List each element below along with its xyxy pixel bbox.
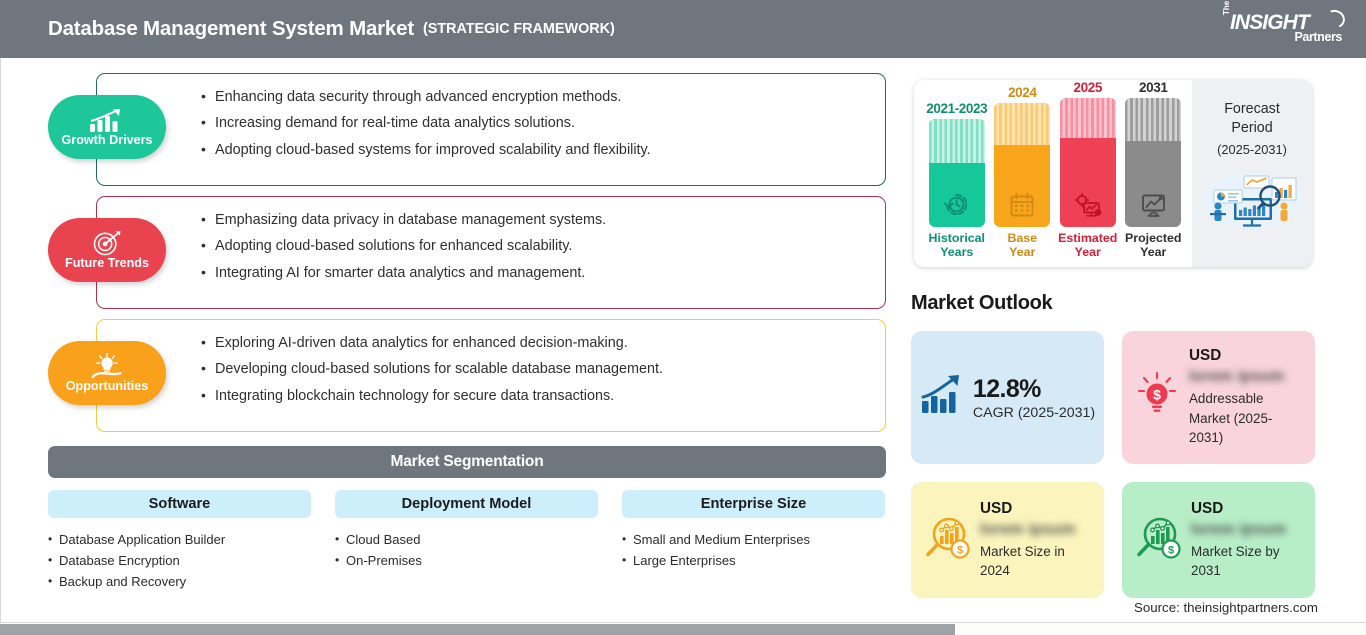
source-attribution: Source: theinsightpartners.com [1134, 600, 1318, 615]
list-item: Adopting cloud-based systems for improve… [201, 143, 885, 157]
magnifier-bar-chart-icon: $ [1134, 515, 1182, 566]
bar-stripes [1060, 98, 1116, 138]
card-label: Addressable Market (2025-2031) [1189, 389, 1303, 448]
market-segmentation-header: Market Segmentation [48, 446, 886, 478]
list-item: Backup and Recovery [48, 571, 311, 592]
currency-label: USD [1191, 500, 1303, 518]
forecast-caption: Historical Years [929, 232, 985, 259]
bar-stripes [994, 103, 1050, 145]
bar-stripes [929, 119, 985, 163]
forecast-period-range: (2025-2031) [1217, 142, 1287, 157]
market-segmentation-title: Market Segmentation [391, 453, 544, 471]
caption-line-2: Year [1140, 245, 1166, 259]
forecast-caption: Projected Year [1125, 232, 1181, 259]
forecast-bar-projected: 2031 [1121, 80, 1187, 267]
forecast-caption: Estimated Year [1058, 232, 1117, 259]
segment-pill-software[interactable]: Software [48, 490, 311, 518]
forecast-year: 2024 [1008, 85, 1036, 100]
outlook-card-market-size-2031[interactable]: $ USD lorem ipsum Market Size by 2031 [1122, 482, 1315, 598]
segment-column-enterprise-size: Enterprise Size Small and Medium Enterpr… [622, 490, 885, 592]
growth-drivers-badge[interactable]: Growth Drivers [48, 95, 166, 159]
segment-pill-enterprise-size[interactable]: Enterprise Size [622, 490, 885, 518]
redacted-value: lorem ipsum [1191, 521, 1303, 539]
forecast-year: 2025 [1074, 80, 1102, 95]
horizontal-scrollbar[interactable] [0, 622, 1366, 635]
market-size-2024-text: USD lorem ipsum Market Size in 2024 [980, 500, 1092, 581]
opportunities-label: Opportunities [66, 380, 149, 392]
outlook-card-market-size-2024[interactable]: $ USD lorem ipsum Market Size in 2024 [911, 482, 1104, 598]
future-trends-badge[interactable]: Future Trends [48, 218, 166, 282]
future-trends-label: Future Trends [65, 257, 149, 269]
bar-stripes [1125, 98, 1181, 141]
growth-drivers-box: Enhancing data security through advanced… [96, 73, 886, 186]
list-item: On-Premises [335, 550, 598, 571]
left-divider [0, 58, 1, 623]
analytics-dashboard-illustration [1200, 168, 1304, 235]
forecast-period-info: Forecast Period (2025-2031) [1192, 80, 1312, 267]
opportunities-badge[interactable]: Opportunities [48, 341, 166, 405]
magnifier-bar-chart-icon: $ [923, 515, 971, 566]
list-item: Small and Medium Enterprises [622, 529, 885, 550]
market-outlook-title: Market Outlook [911, 292, 1052, 315]
segment-column-software: Software Database Application Builder Da… [48, 490, 311, 592]
currency-label: USD [1189, 347, 1303, 365]
svg-text:$: $ [957, 544, 963, 556]
outlook-card-cagr[interactable]: 12.8% CAGR (2025-2031) [911, 331, 1104, 464]
caption-line-2: Year [1075, 245, 1101, 259]
infographic-page: Database Management System Market (STRAT… [0, 0, 1366, 635]
segment-pill-deployment-model[interactable]: Deployment Model [335, 490, 598, 518]
calendar-icon [1009, 192, 1035, 218]
list-item: Integrating blockchain technology for se… [201, 389, 885, 403]
bar-shape [994, 103, 1050, 227]
list-item: Exploring AI-driven data analytics for e… [201, 336, 885, 350]
card-label: Market Size by 2031 [1191, 542, 1303, 581]
outlook-card-addressable-market[interactable]: $ USD lorem ipsum Addressable Market (20… [1122, 331, 1315, 464]
forecast-period-title: Forecast Period [1224, 100, 1280, 138]
forecast-period-panel: 2021-2023 Historical Years [914, 80, 1312, 267]
page-header: Database Management System Market (STRAT… [0, 0, 1366, 58]
cagr-label: CAGR (2025-2031) [973, 405, 1095, 421]
page-title: Database Management System Market [48, 17, 414, 41]
caption-line-1: Historical [929, 231, 985, 245]
forecast-caption: Base Year [1007, 232, 1037, 259]
forecast-title-line-2: Period [1231, 120, 1272, 136]
addressable-market-text: USD lorem ipsum Addressable Market (2025… [1189, 347, 1303, 448]
hand-lightbulb-icon [89, 354, 125, 379]
svg-text:$: $ [1153, 387, 1161, 403]
svg-text:$: $ [1168, 544, 1174, 556]
forecast-bars: 2021-2023 Historical Years [914, 80, 1192, 267]
bar-chart-arrow-icon [920, 375, 964, 420]
forecast-year: 2031 [1139, 80, 1167, 95]
bar-shape [1125, 98, 1181, 227]
bar-shape [929, 119, 985, 227]
gear-chart-icon [1074, 192, 1102, 218]
opportunities-box: Exploring AI-driven data analytics for e… [96, 319, 886, 432]
list-item: Cloud Based [335, 529, 598, 550]
market-segmentation-columns: Software Database Application Builder Da… [48, 490, 886, 592]
market-size-2031-text: USD lorem ipsum Market Size by 2031 [1191, 500, 1303, 581]
redacted-value: lorem ipsum [980, 521, 1092, 539]
list-item: Emphasizing data privacy in database man… [201, 213, 885, 227]
cagr-value: 12.8% [973, 375, 1095, 404]
caption-line-2: Year [1009, 245, 1035, 259]
future-trends-box: Emphasizing data privacy in database man… [96, 196, 886, 309]
segment-title: Deployment Model [402, 496, 532, 512]
list-item: Increasing demand for real-time data ana… [201, 116, 885, 130]
redacted-value: lorem ipsum [1189, 368, 1303, 386]
card-label: Market Size in 2024 [980, 542, 1092, 581]
insight-partners-logo: The INSIGHT Partners [1220, 9, 1348, 49]
logo-arc-icon [1323, 7, 1348, 31]
caption-line-1: Base [1007, 231, 1037, 245]
cagr-text: 12.8% CAGR (2025-2031) [973, 375, 1095, 421]
list-item: Developing cloud-based solutions for sca… [201, 362, 885, 376]
segment-title: Enterprise Size [701, 496, 806, 512]
segment-title: Software [149, 496, 211, 512]
target-dartboard-icon [91, 231, 123, 256]
list-item: Integrating AI for smarter data analytic… [201, 266, 885, 280]
forecast-year: 2021-2023 [926, 101, 987, 116]
list-item: Enhancing data security through advanced… [201, 90, 885, 104]
forecast-bar-historical: 2021-2023 Historical Years [924, 80, 990, 267]
caption-line-1: Projected [1125, 231, 1181, 245]
list-item: Large Enterprises [622, 550, 885, 571]
caption-line-2: Years [940, 245, 973, 259]
list-item: Database Application Builder [48, 529, 311, 550]
forecast-title-line-1: Forecast [1224, 101, 1280, 117]
currency-label: USD [980, 500, 1092, 518]
list-item: Adopting cloud-based solutions for enhan… [201, 239, 885, 253]
lightbulb-dollar-icon: $ [1134, 371, 1180, 424]
segment-column-deployment-model: Deployment Model Cloud Based On-Premises [335, 490, 598, 592]
scrollbar-thumb[interactable] [0, 624, 955, 635]
forecast-bar-estimated: 2025 [1055, 80, 1121, 267]
presentation-chart-icon [1140, 192, 1167, 218]
growth-drivers-label: Growth Drivers [62, 134, 153, 146]
list-item: Database Encryption [48, 550, 311, 571]
page-subtitle: (STRATEGIC FRAMEWORK) [423, 21, 615, 37]
caption-line-1: Estimated [1058, 231, 1117, 245]
bar-shape [1060, 98, 1116, 227]
logo-partners-text: Partners [1294, 30, 1342, 44]
bar-chart-arrow-icon [87, 108, 127, 133]
clock-history-icon [943, 191, 970, 218]
forecast-bar-base: 2024 [990, 80, 1056, 267]
